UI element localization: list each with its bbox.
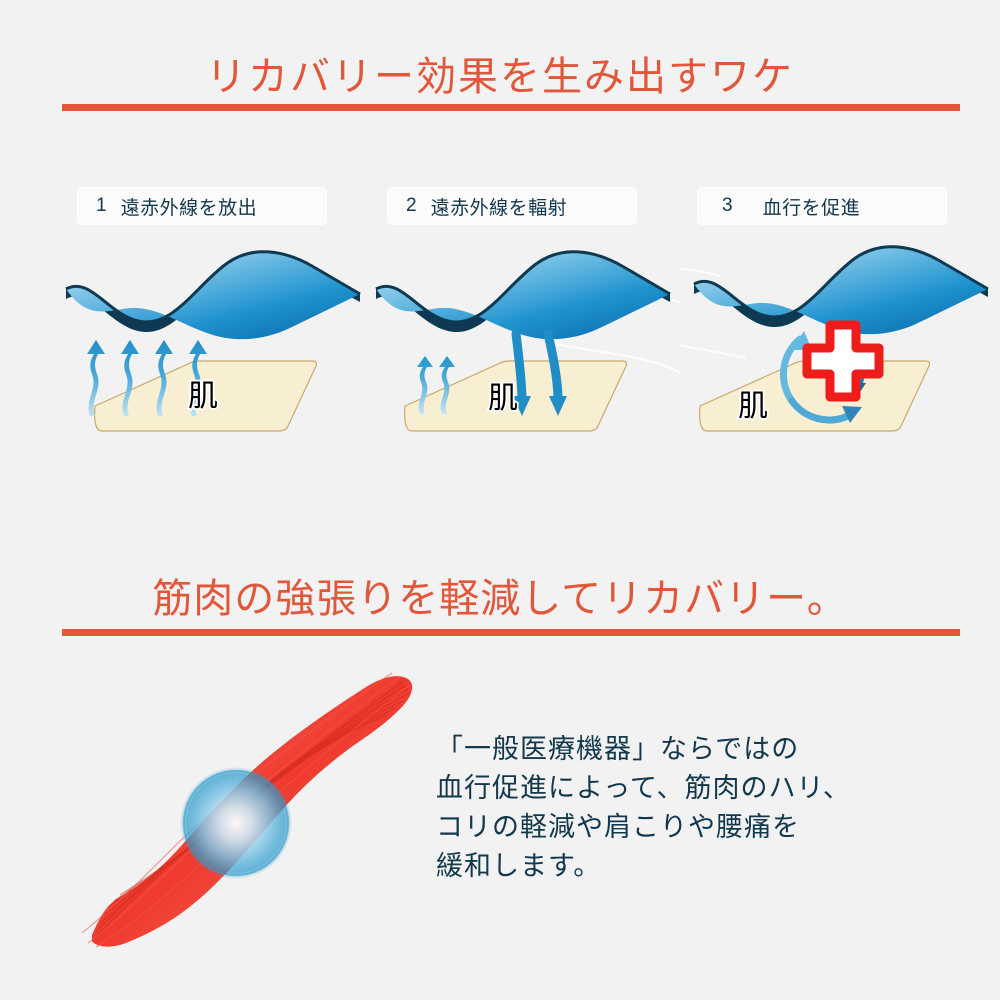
skin-label-1: 肌 (188, 380, 218, 413)
step-1-number: 1 (96, 195, 107, 217)
step-3-label: 血行を促進 (763, 193, 861, 220)
step-panel-3: 3 血行を促進 (680, 188, 990, 478)
skin-label-2: 肌 (488, 382, 518, 415)
step-1-header: 1 遠赤外線を放出 (78, 188, 326, 224)
step-2-illustration: 肌 (370, 226, 680, 476)
step-1-label: 遠赤外線を放出 (121, 193, 258, 220)
step-1-illustration: 肌 (60, 226, 370, 476)
body-copy-line-3: コリの軽減や肩こりや腰痛を (436, 808, 976, 847)
step-2-number: 2 (406, 195, 417, 217)
step-panel-2: 2 遠赤外線を輻射 (370, 188, 680, 478)
steps-section: 1 遠赤外線を放出 (0, 188, 1000, 478)
fabric-sheet-1 (66, 252, 360, 339)
divider-top (62, 104, 960, 111)
step-2-label: 遠赤外線を輻射 (431, 193, 568, 220)
step-3-header: 3 血行を促進 (698, 188, 946, 224)
body-copy: 「一般医療機器」ならではの 血行促進によって、筋肉のハリ、 コリの軽減や肩こりや… (436, 730, 976, 886)
divider-middle (62, 629, 960, 636)
step-2-header: 2 遠赤外線を輻射 (388, 188, 636, 224)
step-3-illustration: 肌 (680, 226, 990, 476)
fabric-sheet-2 (376, 252, 670, 339)
muscle-illustration (70, 655, 430, 955)
heat-glow-center (180, 767, 292, 879)
body-copy-line-1: 「一般医療機器」ならではの (436, 730, 976, 769)
page-title-primary: リカバリー効果を生み出すワケ (0, 44, 1000, 102)
skin-label-3: 肌 (738, 390, 768, 423)
body-copy-line-2: 血行促進によって、筋肉のハリ、 (436, 769, 976, 808)
body-copy-line-4: 緩和します。 (436, 847, 976, 886)
step-panel-1: 1 遠赤外線を放出 (60, 188, 370, 478)
step-3-number: 3 (722, 195, 733, 217)
page-title-secondary: 筋肉の強張りを軽減してリカバリー。 (0, 566, 1000, 624)
